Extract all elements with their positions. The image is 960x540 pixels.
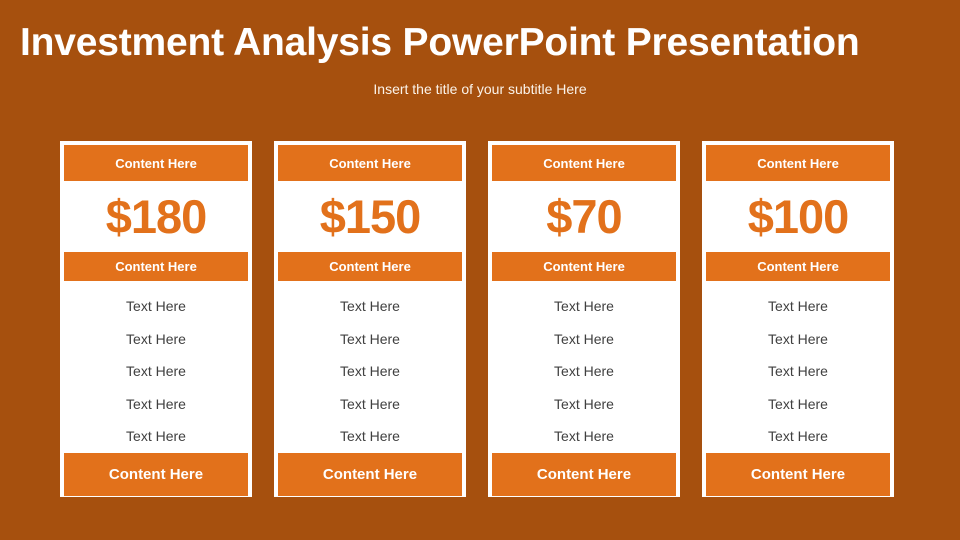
card-feature-list-3: Text Here Text Here Text Here Text Here … [492, 281, 676, 453]
list-item: Text Here [64, 355, 248, 388]
card-feature-list-4: Text Here Text Here Text Here Text Here … [706, 281, 890, 453]
list-item: Text Here [706, 420, 890, 453]
list-item: Text Here [706, 355, 890, 388]
card-subheader-4: Content Here [706, 252, 890, 281]
list-item: Text Here [278, 355, 462, 388]
list-item: Text Here [278, 420, 462, 453]
card-price-1: $180 [64, 181, 248, 252]
list-item: Text Here [64, 290, 248, 323]
card-header-4: Content Here [706, 145, 890, 181]
list-item: Text Here [492, 323, 676, 356]
card-price-2: $150 [278, 181, 462, 252]
page-title: Investment Analysis PowerPoint Presentat… [20, 21, 940, 65]
list-item: Text Here [64, 388, 248, 421]
list-item: Text Here [492, 355, 676, 388]
card-subheader-2: Content Here [278, 252, 462, 281]
card-header-1: Content Here [64, 145, 248, 181]
list-item: Text Here [278, 290, 462, 323]
card-feature-list-1: Text Here Text Here Text Here Text Here … [64, 281, 248, 453]
card-price-4: $100 [706, 181, 890, 252]
card-subheader-1: Content Here [64, 252, 248, 281]
slide-canvas: Investment Analysis PowerPoint Presentat… [0, 0, 960, 540]
card-footer-button-2[interactable]: Content Here [278, 453, 462, 496]
list-item: Text Here [278, 388, 462, 421]
card-feature-list-2: Text Here Text Here Text Here Text Here … [278, 281, 462, 453]
card-footer-button-3[interactable]: Content Here [492, 453, 676, 496]
list-item: Text Here [706, 290, 890, 323]
card-subheader-3: Content Here [492, 252, 676, 281]
pricing-card-4[interactable]: Content Here $100 Content Here Text Here… [702, 141, 894, 497]
list-item: Text Here [706, 388, 890, 421]
card-price-3: $70 [492, 181, 676, 252]
card-footer-button-4[interactable]: Content Here [706, 453, 890, 496]
card-header-2: Content Here [278, 145, 462, 181]
pricing-card-1[interactable]: Content Here $180 Content Here Text Here… [60, 141, 252, 497]
list-item: Text Here [64, 420, 248, 453]
pricing-card-3[interactable]: Content Here $70 Content Here Text Here … [488, 141, 680, 497]
list-item: Text Here [278, 323, 462, 356]
card-header-3: Content Here [492, 145, 676, 181]
list-item: Text Here [64, 323, 248, 356]
card-footer-button-1[interactable]: Content Here [64, 453, 248, 496]
list-item: Text Here [492, 290, 676, 323]
page-subtitle: Insert the title of your subtitle Here [0, 80, 960, 98]
list-item: Text Here [492, 420, 676, 453]
list-item: Text Here [706, 323, 890, 356]
pricing-card-2[interactable]: Content Here $150 Content Here Text Here… [274, 141, 466, 497]
list-item: Text Here [492, 388, 676, 421]
